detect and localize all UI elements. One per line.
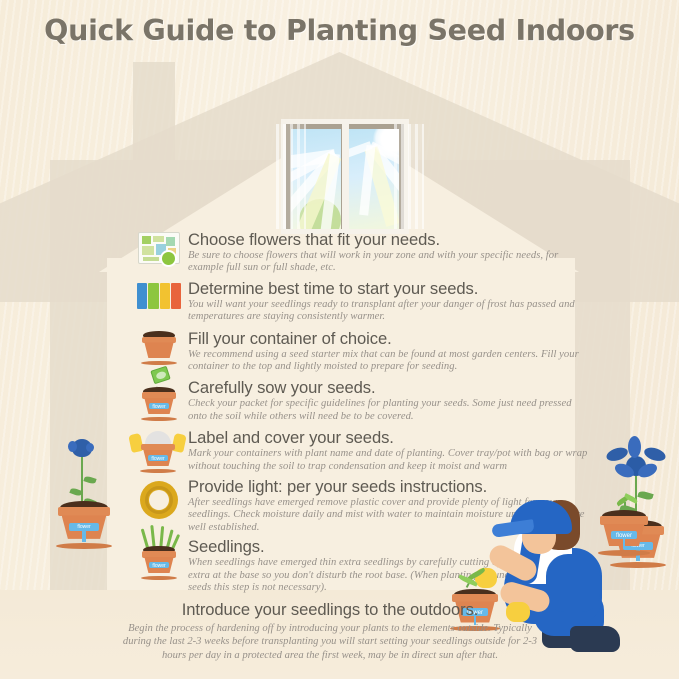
flower-petal bbox=[628, 436, 641, 458]
terracotta-pot: flower bbox=[141, 444, 175, 470]
background-terracotta-pot: flower bbox=[600, 516, 648, 552]
closing-body: Begin the process of hardening off by in… bbox=[120, 622, 540, 662]
step-item: Choose flowers that fit your needs. Be s… bbox=[136, 230, 596, 275]
calendar-month bbox=[148, 283, 158, 309]
window-pane-right bbox=[349, 129, 399, 229]
step-body: Mark your containers with plant name and… bbox=[188, 448, 588, 473]
terracotta-pot: flower bbox=[58, 507, 110, 545]
pot-rim bbox=[142, 551, 176, 557]
window-curtain-right bbox=[394, 124, 424, 229]
title-bar: Quick Guide to Planting Seed Indoors bbox=[0, 0, 679, 62]
plant-label-tag: flower bbox=[149, 562, 168, 568]
step-item: flower Label and cover your seeds. Mark … bbox=[136, 428, 596, 473]
pot-rim bbox=[141, 444, 175, 450]
step-heading: Label and cover your seeds. bbox=[188, 428, 596, 448]
seed-packet-pot-icon: ⁘ flower bbox=[136, 368, 182, 424]
step-body: Check your packet for specific guideline… bbox=[188, 398, 588, 423]
pot-rim bbox=[142, 337, 176, 343]
terracotta-pot bbox=[142, 337, 176, 363]
terracotta-pot: flower bbox=[142, 551, 176, 577]
pot-rim bbox=[142, 392, 176, 398]
plant-label-tag: flower bbox=[148, 455, 167, 461]
calendar-icon bbox=[136, 279, 182, 325]
gardener-boot-front bbox=[570, 626, 620, 652]
pot-saucer bbox=[598, 550, 650, 556]
flower-petal bbox=[605, 445, 630, 463]
pot-saucer bbox=[141, 417, 178, 421]
step-item: ⁘ flower Carefully sow your seeds. Check… bbox=[136, 378, 596, 423]
plant-label-stem bbox=[82, 531, 85, 542]
pot-saucer bbox=[141, 576, 178, 580]
page-title: Quick Guide to Planting Seed Indoors bbox=[0, 14, 679, 47]
gloves-covered-pot-icon: flower bbox=[130, 428, 186, 474]
terracotta-pot: flower bbox=[142, 392, 176, 418]
map-zone-badge bbox=[160, 250, 177, 267]
pot-saucer bbox=[141, 361, 178, 365]
step-body: You will want your seedlings ready to tr… bbox=[188, 299, 588, 324]
step-heading: Fill your container of choice. bbox=[188, 329, 596, 349]
pot-bowl bbox=[144, 342, 173, 358]
calendar-strip bbox=[137, 283, 181, 309]
pot-rim bbox=[58, 507, 110, 516]
seed-packet bbox=[150, 366, 170, 385]
window-curtain-left bbox=[276, 124, 306, 229]
plant-label-stem bbox=[623, 538, 626, 549]
calendar-month bbox=[160, 283, 170, 309]
gardener-overalls-seat bbox=[546, 554, 600, 612]
sun-icon bbox=[136, 477, 182, 523]
calendar-month bbox=[137, 283, 147, 309]
step-heading: Choose flowers that fit your needs. bbox=[188, 230, 596, 250]
pot-saucer bbox=[140, 469, 177, 473]
step-heading: Carefully sow your seeds. bbox=[188, 378, 596, 398]
seedlings-pot-icon: flower bbox=[136, 525, 182, 577]
left-potted-plant: flower bbox=[48, 415, 118, 550]
sun-disc bbox=[140, 481, 178, 519]
window-graphic bbox=[281, 119, 409, 234]
flower-petal bbox=[68, 441, 77, 452]
step-item: Fill your container of choice. We recomm… bbox=[136, 329, 596, 374]
calendar-month bbox=[171, 283, 181, 309]
pot-saucer bbox=[56, 543, 112, 549]
closing-heading: Introduce your seedlings to the outdoors… bbox=[120, 600, 540, 620]
step-body: Be sure to choose flowers that will work… bbox=[188, 250, 588, 275]
zone-map-icon bbox=[136, 230, 182, 276]
leaf bbox=[83, 475, 96, 484]
step-heading: Determine best time to start your seeds. bbox=[188, 279, 596, 299]
plant-label-tag: flower bbox=[149, 403, 168, 409]
step-body: We recommend using a seed starter mix th… bbox=[188, 349, 588, 374]
infographic-poster: Quick Guide to Planting Seed Indoors bbox=[0, 0, 679, 679]
pot-rim bbox=[600, 516, 648, 525]
flower-petal bbox=[643, 445, 668, 463]
step-item: Determine best time to start your seeds.… bbox=[136, 279, 596, 324]
flower-petal bbox=[86, 443, 94, 452]
window-mullion bbox=[342, 124, 349, 229]
closing-block: Introduce your seedlings to the outdoors… bbox=[120, 600, 540, 662]
